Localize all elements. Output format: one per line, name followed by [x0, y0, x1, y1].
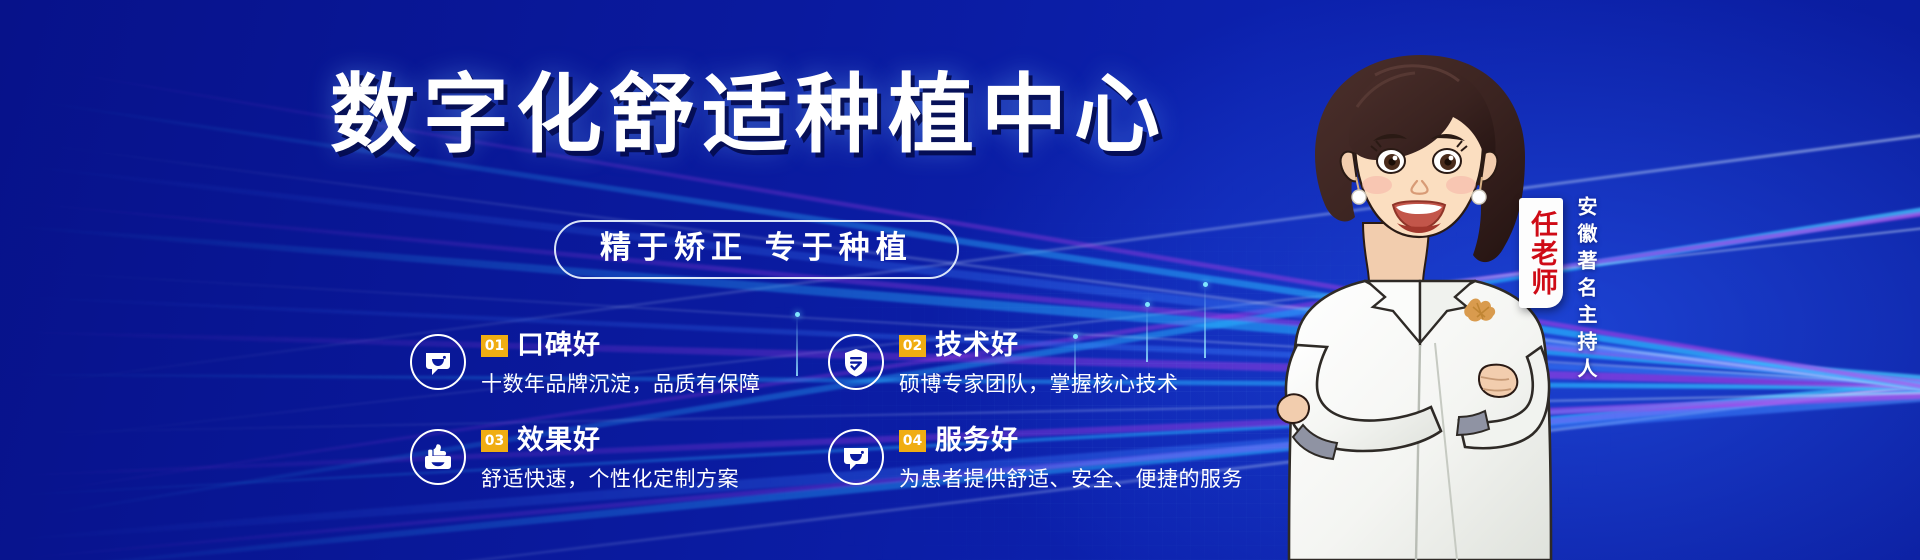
feature-item-01[interactable]: 01 口碑好 十数年品牌沉淀，品质有保障 — [410, 332, 828, 427]
feature-title: 口碑好 — [517, 332, 601, 359]
feature-list: 01 口碑好 十数年品牌沉淀，品质有保障 — [410, 332, 1308, 522]
feature-item-03[interactable]: 03 效果好 舒适快速，个性化定制方案 — [410, 427, 828, 522]
feature-item-04[interactable]: 04 服务好 为患者提供舒适、安全、便捷的服务 — [828, 427, 1308, 522]
feature-description: 为患者提供舒适、安全、便捷的服务 — [899, 463, 1243, 493]
feature-description: 十数年品牌沉淀，品质有保障 — [481, 368, 761, 398]
promo-banner: 数字化舒适种植中心 精于矫正 专于种植 01 口碑好 — [0, 0, 1920, 560]
feature-title: 技术好 — [935, 332, 1019, 359]
smile-chat-icon — [410, 334, 466, 390]
feature-item-02[interactable]: 02 技术好 硕博专家团队，掌握核心技术 — [828, 332, 1308, 427]
feature-text: 03 效果好 舒适快速，个性化定制方案 — [481, 427, 739, 493]
feature-heading: 02 技术好 — [899, 332, 1179, 359]
feature-text: 01 口碑好 十数年品牌沉淀，品质有保障 — [481, 332, 761, 398]
subtitle-pill: 精于矫正 专于种植 — [554, 220, 959, 279]
feature-heading: 01 口碑好 — [481, 332, 761, 359]
feature-text: 02 技术好 硕博专家团队，掌握核心技术 — [899, 332, 1179, 398]
presenter-seal: 任老师 — [1519, 198, 1563, 308]
shield-check-icon — [828, 334, 884, 390]
page-subtitle: 精于矫正 专于种植 — [600, 229, 913, 268]
presenter-credential: 安徽著名主持人 — [1575, 196, 1596, 385]
feature-description: 硕博专家团队，掌握核心技术 — [899, 368, 1179, 398]
seal-label: 任老师 — [1527, 210, 1555, 297]
feature-number-badge: 02 — [899, 335, 926, 357]
feature-title: 效果好 — [517, 427, 601, 454]
feature-description: 舒适快速，个性化定制方案 — [481, 463, 739, 493]
page-title: 数字化舒适种植中心 — [330, 72, 1167, 158]
smile-chat-icon — [828, 429, 884, 485]
feature-heading: 04 服务好 — [899, 427, 1243, 454]
feature-title: 服务好 — [935, 427, 1019, 454]
feature-text: 04 服务好 为患者提供舒适、安全、便捷的服务 — [899, 427, 1243, 493]
feature-number-badge: 01 — [481, 335, 508, 357]
hero-content: 数字化舒适种植中心 精于矫正 专于种植 01 口碑好 — [0, 0, 1300, 560]
feature-number-badge: 04 — [899, 430, 926, 452]
feature-number-badge: 03 — [481, 430, 508, 452]
feature-heading: 03 效果好 — [481, 427, 739, 454]
thumbs-up-icon — [410, 429, 466, 485]
